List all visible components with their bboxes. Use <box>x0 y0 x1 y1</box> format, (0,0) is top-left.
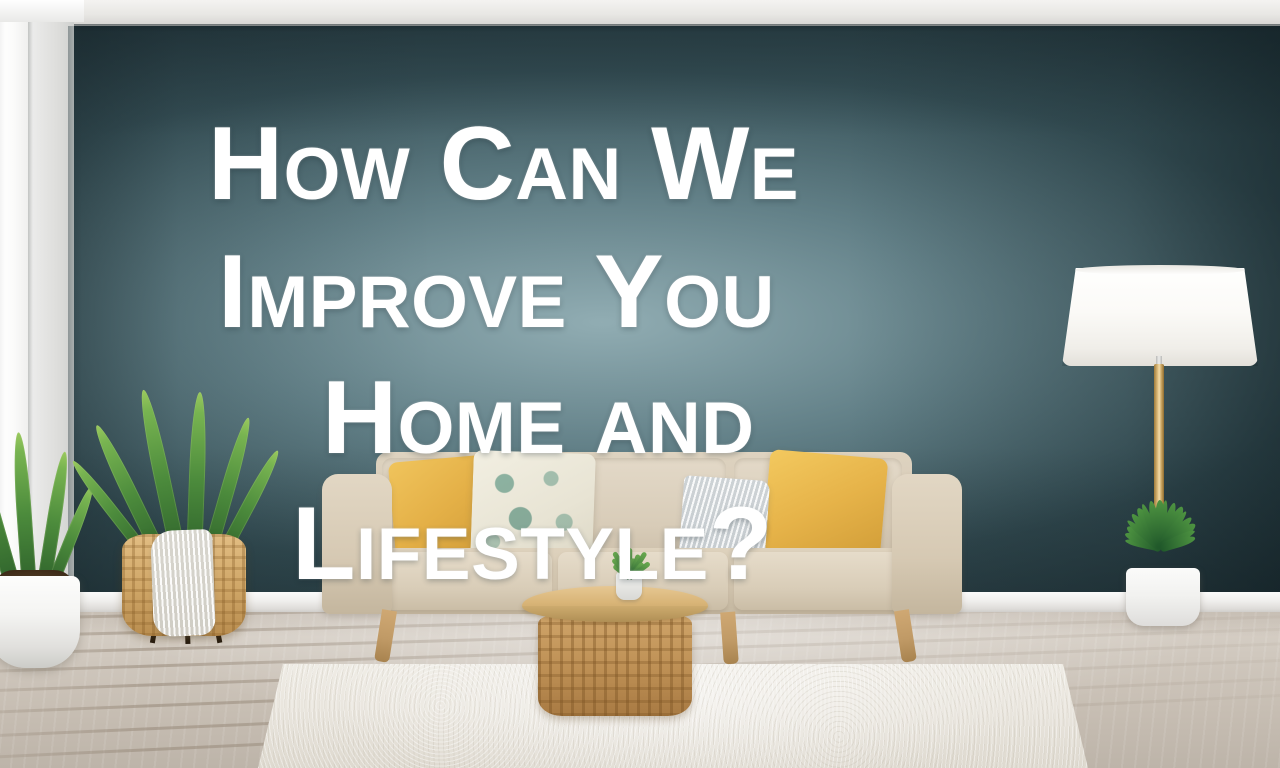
interior-banner-image: How Can We Improve You Home and Lifestyl… <box>0 0 1280 768</box>
lamp-plant <box>1078 506 1242 618</box>
snake-plant-potted-leaves <box>0 420 96 590</box>
sofa-leg <box>894 609 917 663</box>
window-jamb-top <box>0 0 84 22</box>
pillow-yellow-right <box>762 449 889 563</box>
sofa-leg <box>720 612 739 665</box>
floor-lamp <box>1062 268 1258 614</box>
basket-blanket <box>150 529 216 637</box>
ceiling-shadow <box>0 24 1280 32</box>
sofa-leg <box>374 609 397 663</box>
lamp-shade <box>1062 268 1258 366</box>
lamp-shade-top-rim <box>1075 265 1245 275</box>
sofa-arm-left <box>322 474 392 614</box>
coffee-table-wicker-base <box>538 616 692 716</box>
sofa-seat-cushion <box>734 552 904 610</box>
table-plant <box>606 542 652 598</box>
lamp-plant-pot <box>1126 568 1200 626</box>
ceiling-trim <box>0 0 1280 26</box>
sofa-arm-right <box>892 474 962 614</box>
snake-plant-pot <box>0 576 80 668</box>
pillow-patterned <box>470 450 596 562</box>
coffee-table <box>522 586 708 718</box>
table-plant-leaves <box>606 542 652 578</box>
